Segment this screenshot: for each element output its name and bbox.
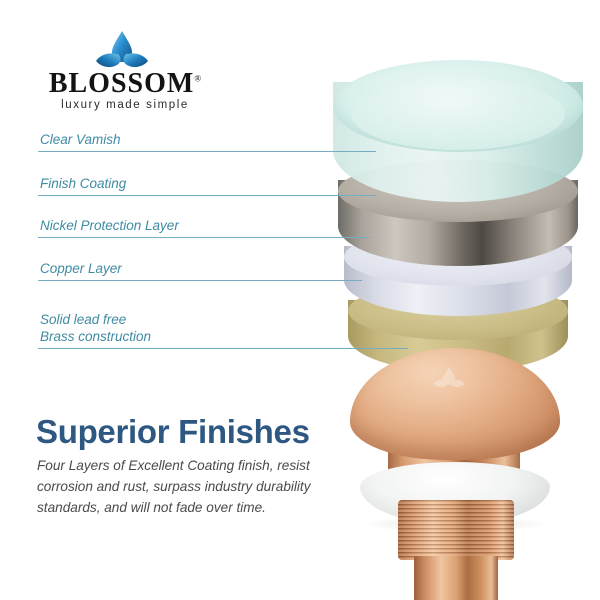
exploded-layer-stack: [318, 60, 600, 370]
brand-name: BLOSSOM: [49, 68, 194, 99]
callout-label: Nickel Protection Layer: [38, 217, 300, 234]
infographic-page: BLOSSOM® luxury made simple: [0, 0, 600, 600]
blossom-petals-icon: [428, 366, 470, 390]
callout-label: Copper Layer: [38, 260, 300, 277]
page-description: Four Layers of Excellent Coating finish,…: [37, 455, 333, 518]
callout-label: Finish Coating: [38, 175, 300, 192]
brand-logo: BLOSSOM® luxury made simple: [30, 30, 220, 108]
callout-label: Solid lead free: [38, 311, 300, 328]
callout-label: Brass construction: [38, 328, 300, 345]
drain-tailpiece-tube: [414, 556, 498, 600]
callout-underline: [38, 348, 300, 349]
callout-underline: [38, 237, 300, 238]
callout-leader-line: [300, 348, 408, 349]
callout-underline: [38, 280, 300, 281]
product-drain: [340, 340, 570, 600]
registered-trademark-icon: ®: [194, 74, 201, 84]
callout-brass-construction: Solid lead freeBrass construction: [38, 311, 300, 349]
callout-leader-line: [300, 151, 376, 152]
callout-finish-coating: Finish Coating: [38, 175, 300, 196]
page-title: Superior Finishes: [36, 414, 310, 450]
layer-disc-varnish-inner: [351, 78, 565, 150]
callout-copper-layer: Copper Layer: [38, 260, 300, 281]
brand-wordmark: BLOSSOM®: [30, 70, 220, 98]
drain-cap: [350, 348, 560, 460]
callout-leader-line: [300, 280, 362, 281]
callout-underline: [38, 195, 300, 196]
callout-leader-line: [300, 195, 376, 196]
drain-threaded-body: [398, 500, 514, 560]
callout-leader-line: [300, 237, 370, 238]
brand-tagline: luxury made simple: [30, 100, 220, 112]
callout-nickel-protection: Nickel Protection Layer: [38, 217, 300, 238]
callout-underline: [38, 151, 300, 152]
callout-clear-varnish: Clear Vamish: [38, 131, 300, 152]
callout-label: Clear Vamish: [38, 131, 300, 148]
